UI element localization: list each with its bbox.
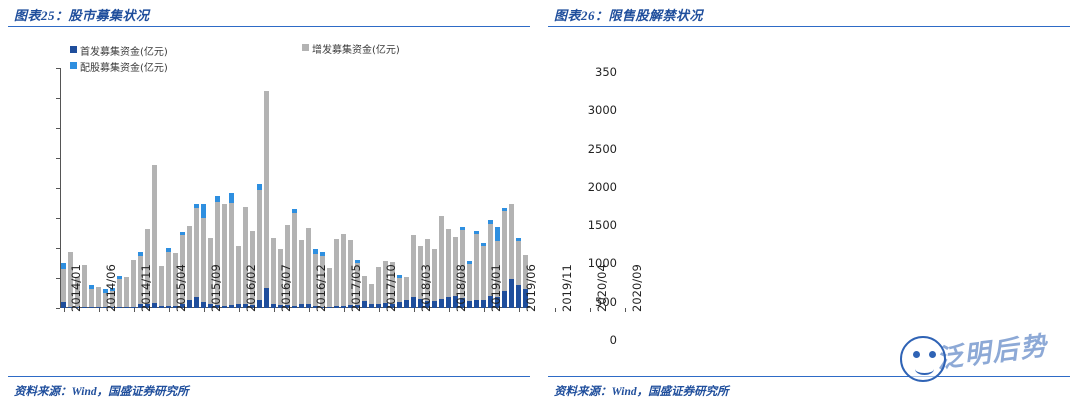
bar-segment	[96, 287, 101, 307]
legend-swatch-spo	[302, 44, 309, 51]
x-axis-tick	[64, 308, 65, 312]
report-figures-page: 图表25：股市募集状况 首发募集资金(亿元) 增发募集资金(亿元) 配股募集资金…	[0, 0, 1080, 403]
bar-segment	[61, 269, 66, 303]
bar-group	[228, 68, 235, 308]
y-axis-label: 1500	[588, 218, 617, 232]
bar-segment	[516, 241, 521, 284]
bar-group	[200, 68, 207, 308]
bar-group	[88, 68, 95, 308]
divider-top-left	[8, 26, 530, 27]
bar-segment	[124, 307, 129, 308]
x-axis-label: 2014/01	[69, 264, 83, 312]
x-axis-label: 2015/09	[209, 264, 223, 312]
x-axis-label: 2016/07	[279, 264, 293, 312]
bar-segment	[404, 277, 409, 300]
bar	[229, 68, 234, 308]
x-axis-tick	[344, 308, 345, 312]
x-axis-label: 2016/12	[314, 264, 328, 312]
page-title-left: 图表25：股市募集状况	[14, 5, 150, 24]
bar-segment	[509, 279, 514, 308]
x-axis-tick	[99, 308, 100, 312]
x-axis-tick	[379, 308, 380, 312]
bar-segment	[194, 297, 199, 308]
bar-group	[375, 68, 382, 308]
legend-item-ipo: 首发募集资金(亿元)	[70, 43, 168, 58]
x-axis-label: 2014/11	[139, 264, 153, 312]
bar-segment	[495, 227, 500, 241]
bar	[201, 68, 206, 308]
bar-group	[270, 68, 277, 308]
x-axis-tick	[414, 308, 415, 312]
bar	[89, 68, 94, 308]
bar-segment	[159, 306, 164, 308]
page-title-right: 图表26：限售股解禁状况	[554, 5, 703, 24]
legend-swatch-ipo	[70, 46, 77, 53]
bar	[439, 68, 444, 308]
bar	[341, 68, 346, 308]
bar-segment	[439, 299, 444, 308]
bar	[271, 68, 276, 308]
bar-segment	[201, 204, 206, 218]
bar-segment	[89, 289, 94, 307]
y-axis-label: 2500	[588, 142, 617, 156]
bar-group	[298, 68, 305, 308]
bar-segment	[369, 284, 374, 304]
bar-segment	[306, 228, 311, 305]
figure-panel-26: 图表26：限售股解禁状况 本期开始流通市值合计(亿元) 050010001500…	[540, 0, 1080, 403]
source-note-right: 资料来源：Wind，国盛证券研究所	[554, 383, 729, 399]
bar	[334, 68, 339, 308]
bar	[96, 68, 101, 308]
bar-group	[445, 68, 452, 308]
x-axis-label: 2019/01	[489, 264, 503, 312]
bar-segment	[474, 300, 479, 308]
x-axis-tick	[519, 308, 520, 312]
bar-group	[193, 68, 200, 308]
x-axis-tick	[484, 308, 485, 312]
bar	[61, 68, 66, 308]
legend-label-ipo: 首发募集资金(亿元)	[80, 47, 168, 58]
bar	[509, 68, 514, 308]
bar-segment	[509, 204, 514, 279]
x-axis-tick	[239, 308, 240, 312]
bar-segment	[446, 229, 451, 296]
bar-segment	[481, 246, 486, 299]
bar-group	[165, 68, 172, 308]
bar-group	[473, 68, 480, 308]
bar-segment	[229, 193, 234, 204]
bar	[446, 68, 451, 308]
figure-panel-25: 图表25：股市募集状况 首发募集资金(亿元) 增发募集资金(亿元) 配股募集资金…	[0, 0, 540, 403]
x-axis-tick	[449, 308, 450, 312]
bar-segment	[89, 307, 94, 308]
bar	[369, 68, 374, 308]
bar	[411, 68, 416, 308]
bar-segment	[166, 252, 171, 306]
bar-group	[235, 68, 242, 308]
x-axis-tick	[169, 308, 170, 312]
y-axis-label: 0	[610, 333, 617, 347]
bar-segment	[271, 238, 276, 303]
bar-segment	[516, 285, 521, 308]
bar-segment	[264, 288, 269, 308]
bar-group	[333, 68, 340, 308]
bar-group	[410, 68, 417, 308]
bar	[236, 68, 241, 308]
bar-group	[60, 68, 67, 308]
divider-bottom-right	[548, 376, 1070, 377]
bar-segment	[334, 239, 339, 306]
bar-segment	[229, 203, 234, 304]
bar-segment	[194, 208, 199, 297]
bar-segment	[264, 91, 269, 288]
y-axis-label: 350	[595, 65, 617, 79]
bar-group	[340, 68, 347, 308]
x-axis-tick	[134, 308, 135, 312]
x-axis-tick	[274, 308, 275, 312]
bar-group	[438, 68, 445, 308]
bar-segment	[229, 305, 234, 308]
bar-segment	[334, 306, 339, 308]
divider-top-right	[548, 26, 1070, 27]
bar	[376, 68, 381, 308]
bar-segment	[124, 277, 129, 307]
bar-group	[403, 68, 410, 308]
bar-segment	[474, 234, 479, 300]
x-axis-label: 2018/03	[419, 264, 433, 312]
bar	[264, 68, 269, 308]
source-note-left: 资料来源：Wind，国盛证券研究所	[14, 383, 189, 399]
bar-group	[368, 68, 375, 308]
bar-segment	[369, 304, 374, 309]
bar	[166, 68, 171, 308]
bar	[404, 68, 409, 308]
bar-segment	[404, 300, 409, 308]
x-axis-label: 2019/06	[524, 264, 538, 312]
bar-segment	[299, 240, 304, 305]
bar-segment	[201, 218, 206, 302]
y-axis-label: 1000	[588, 256, 617, 270]
y-axis-label: 2000	[588, 180, 617, 194]
bar-group	[305, 68, 312, 308]
x-axis-label: 2016/02	[244, 264, 258, 312]
bar	[299, 68, 304, 308]
bar	[194, 68, 199, 308]
x-axis-label: 2017/10	[384, 264, 398, 312]
bar-segment	[446, 297, 451, 308]
bar-group	[263, 68, 270, 308]
bar-group	[508, 68, 515, 308]
bar-segment	[439, 216, 444, 299]
bar-segment	[376, 267, 381, 304]
bar-segment	[411, 297, 416, 308]
y-axis-label: 500	[595, 295, 617, 309]
bar-segment	[341, 234, 346, 305]
x-axis-label: 2018/08	[454, 264, 468, 312]
legend-item-spo: 增发募集资金(亿元)	[302, 41, 400, 56]
bar-segment	[299, 304, 304, 308]
x-axis-label: 2017/05	[349, 264, 363, 312]
bar-group	[480, 68, 487, 308]
bar-segment	[481, 300, 486, 308]
y-axis-label: 3000	[588, 103, 617, 117]
divider-bottom-left	[8, 376, 530, 377]
bar-group	[95, 68, 102, 308]
x-axis-label: 2014/06	[104, 264, 118, 312]
x-axis-tick	[204, 308, 205, 312]
x-axis-tick	[309, 308, 310, 312]
x-axis-label: 2015/04	[174, 264, 188, 312]
bar-segment	[236, 246, 241, 305]
y-axis-tick	[56, 308, 60, 309]
bar	[306, 68, 311, 308]
bar-segment	[131, 260, 136, 306]
bar	[131, 68, 136, 308]
bar	[124, 68, 129, 308]
bar-segment	[159, 266, 164, 306]
bar-group	[123, 68, 130, 308]
bar	[516, 68, 521, 308]
bar-group	[158, 68, 165, 308]
legend-label-spo: 增发募集资金(亿元)	[312, 45, 400, 56]
bar-group	[130, 68, 137, 308]
bar	[159, 68, 164, 308]
bar	[481, 68, 486, 308]
bar-group	[515, 68, 522, 308]
bar	[474, 68, 479, 308]
bar-segment	[411, 235, 416, 297]
